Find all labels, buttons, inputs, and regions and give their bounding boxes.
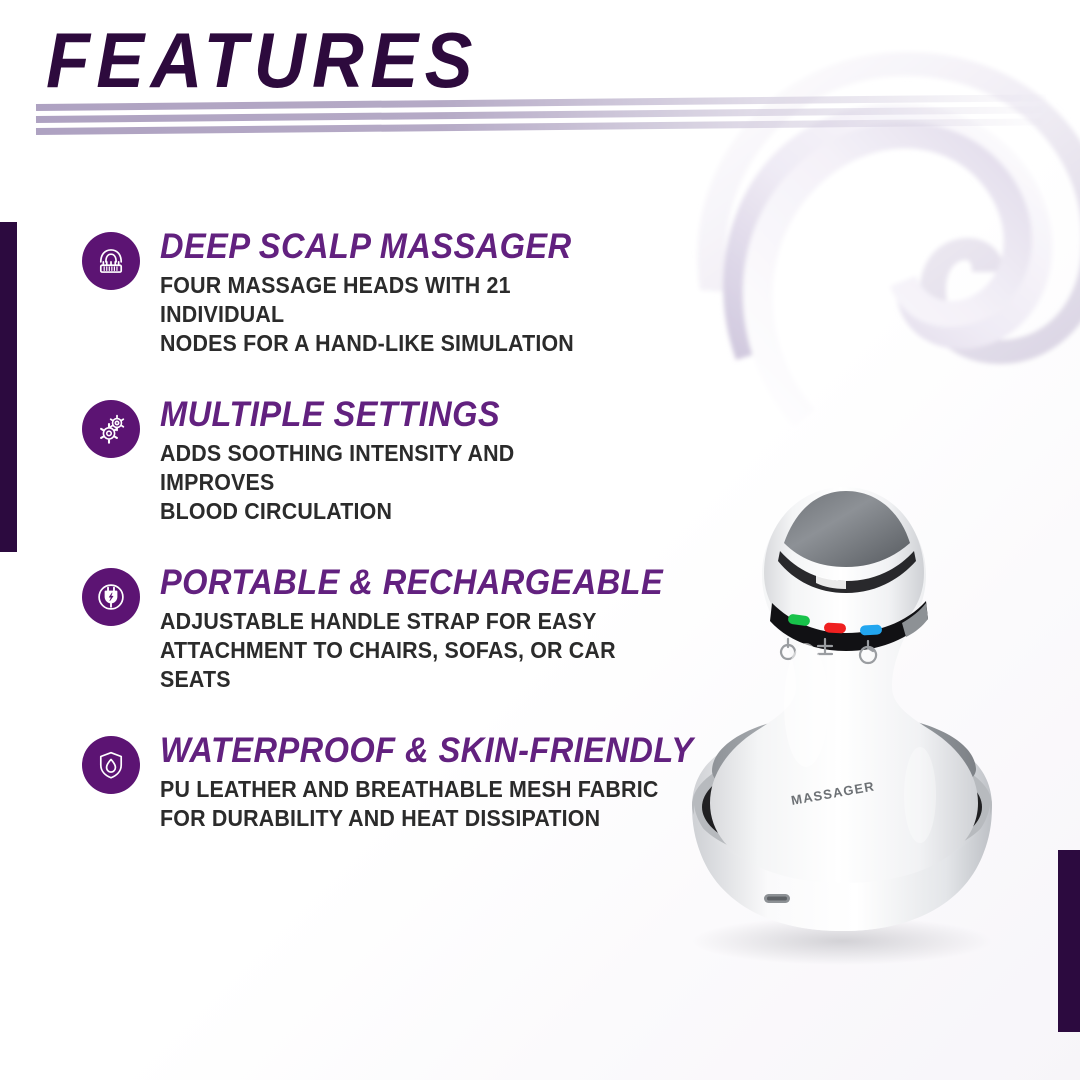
shield-droplet-icon: [82, 736, 140, 794]
massager-head-icon: [82, 232, 140, 290]
product-image: MASSAGER: [620, 375, 1070, 975]
feature-heading: WATERPROOF & SKIN-FRIENDLY: [160, 732, 693, 770]
feature-item: DEEP SCALP MASSAGER FOUR MASSAGE HEADS W…: [82, 228, 662, 358]
infographic-page: FEATURES DEEP SCALP MASS: [0, 0, 1080, 1080]
feature-description: ADDS SOOTHING INTENSITY AND IMPROVES BLO…: [160, 439, 627, 526]
page-title: FEATURES: [46, 18, 966, 102]
feature-heading: PORTABLE & RECHARGEABLE: [160, 564, 663, 602]
title-block: FEATURES: [46, 18, 1046, 102]
left-accent-bar: [0, 222, 17, 552]
feature-heading: DEEP SCALP MASSAGER: [160, 228, 627, 266]
feature-item: WATERPROOF & SKIN-FRIENDLY PU LEATHER AN…: [82, 732, 662, 833]
plug-bolt-icon: [82, 568, 140, 626]
title-underline-rules: [36, 104, 1046, 138]
feature-item: MULTIPLE SETTINGS ADDS SOOTHING INTENSIT…: [82, 396, 662, 526]
features-list: DEEP SCALP MASSAGER FOUR MASSAGE HEADS W…: [82, 228, 662, 871]
feature-description: ADJUSTABLE HANDLE STRAP FOR EASY ATTACHM…: [160, 607, 663, 694]
feature-description: FOUR MASSAGE HEADS WITH 21 INDIVIDUAL NO…: [160, 271, 627, 358]
feature-text: DEEP SCALP MASSAGER FOUR MASSAGE HEADS W…: [160, 228, 662, 358]
feature-heading: MULTIPLE SETTINGS: [160, 396, 627, 434]
feature-item: PORTABLE & RECHARGEABLE ADJUSTABLE HANDL…: [82, 564, 662, 694]
gears-icon: [82, 400, 140, 458]
feature-description: PU LEATHER AND BREATHABLE MESH FABRIC FO…: [160, 775, 693, 833]
led-blue: [860, 624, 882, 635]
led-red: [824, 622, 846, 633]
feature-text: MULTIPLE SETTINGS ADDS SOOTHING INTENSIT…: [160, 396, 662, 526]
